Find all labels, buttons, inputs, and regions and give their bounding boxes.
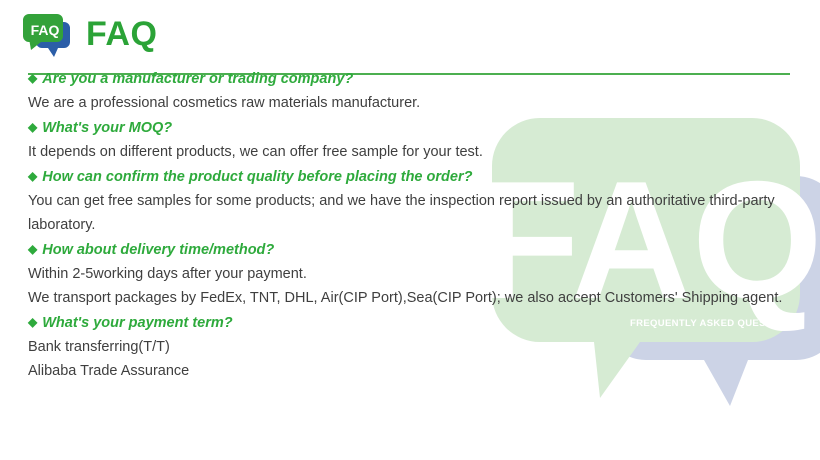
faq-question-text: How about delivery time/method? [42, 242, 274, 258]
faq-page: FAQ FREQUENTLY ASKED QUESTIONS FAQ FAQ ◆… [0, 0, 820, 460]
page-header: FAQ FAQ [0, 0, 820, 52]
diamond-bullet-icon: ◆ [28, 164, 37, 188]
faq-item: ◆Are you a manufacturer or trading compa… [28, 66, 792, 115]
faq-answer: It depends on different products, we can… [28, 140, 792, 164]
faq-question-text: How can confirm the product quality befo… [42, 169, 472, 185]
page-title: FAQ [86, 17, 157, 51]
faq-question: ◆What's your MOQ? [28, 115, 792, 140]
faq-question: ◆How about delivery time/method? [28, 237, 792, 262]
faq-answer: We transport packages by FedEx, TNT, DHL… [28, 286, 792, 310]
faq-answer: Within 2-5working days after your paymen… [28, 262, 792, 286]
diamond-bullet-icon: ◆ [28, 237, 37, 261]
faq-question-text: What's your MOQ? [42, 120, 172, 136]
faq-item: ◆How can confirm the product quality bef… [28, 164, 792, 237]
faq-list: ◆Are you a manufacturer or trading compa… [0, 52, 820, 383]
diamond-bullet-icon: ◆ [28, 66, 37, 90]
faq-item: ◆What's your MOQ? It depends on differen… [28, 115, 792, 164]
faq-question: ◆Are you a manufacturer or trading compa… [28, 66, 792, 91]
faq-item: ◆How about delivery time/method? Within … [28, 237, 792, 310]
diamond-bullet-icon: ◆ [28, 310, 37, 334]
faq-question-text: Are you a manufacturer or trading compan… [42, 71, 353, 87]
diamond-bullet-icon: ◆ [28, 115, 37, 139]
svg-text:FAQ: FAQ [31, 22, 60, 38]
faq-answer: Alibaba Trade Assurance [28, 359, 792, 383]
faq-answer: Bank transferring(T/T) [28, 335, 792, 359]
faq-question: ◆What's your payment term? [28, 310, 792, 335]
faq-answer: You can get free samples for some produc… [28, 189, 792, 237]
faq-question: ◆How can confirm the product quality bef… [28, 164, 792, 189]
faq-item: ◆What's your payment term? Bank transfer… [28, 310, 792, 383]
faq-question-text: What's your payment term? [42, 315, 232, 331]
faq-answer: We are a professional cosmetics raw mate… [28, 91, 792, 115]
